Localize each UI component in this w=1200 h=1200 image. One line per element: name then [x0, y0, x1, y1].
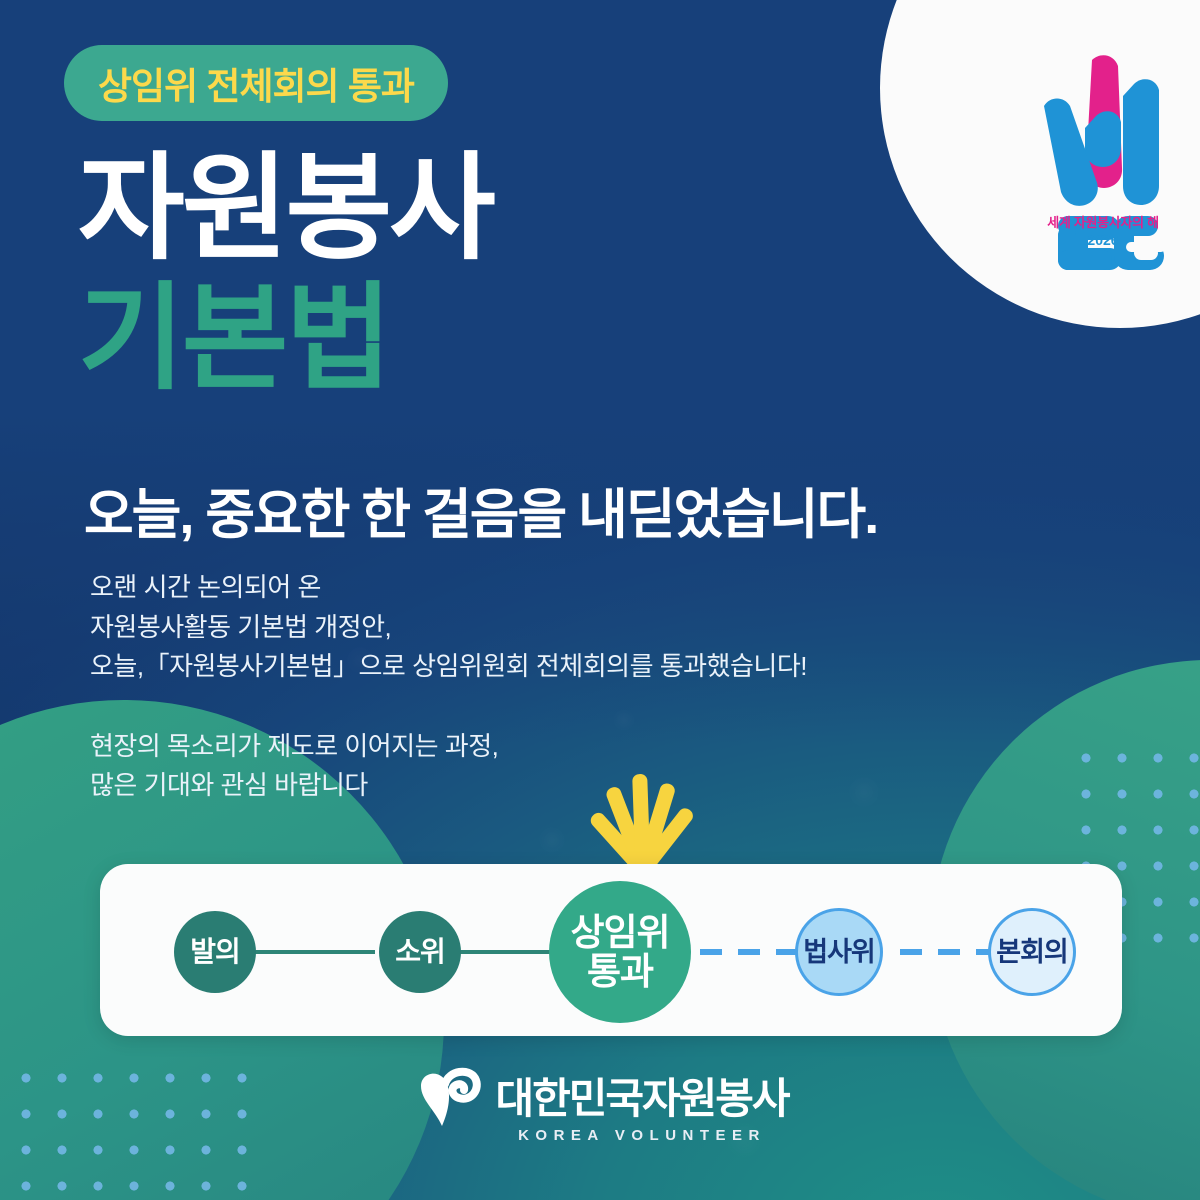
- step-balui[interactable]: 발의: [174, 911, 256, 993]
- footer-name-english: KOREA VOLUNTEER: [495, 1127, 788, 1144]
- title-line-2: 기본법: [78, 280, 493, 396]
- footer-name-korean: 대한민국자원봉사: [495, 1078, 788, 1120]
- step-sangimwi-tonggwa[interactable]: 상임위 통과: [549, 881, 691, 1023]
- title-line-1: 자원봉사: [78, 150, 493, 266]
- step-sangimwi-label-line1: 상임위: [570, 913, 669, 952]
- page-title: 자원봉사 기본법: [78, 150, 493, 396]
- footer-logo: 대한민국자원봉사 KOREA VOLUNTEER: [0, 1078, 1200, 1144]
- paragraph-spacer: [90, 687, 807, 727]
- status-badge: 상임위 전체회의 통과: [64, 45, 448, 121]
- step-sowi-label: 소위: [395, 937, 445, 967]
- footer-wordmark: 대한민국자원봉사 KOREA VOLUNTEER: [495, 1078, 788, 1144]
- body-para1-line2: 자원봉사활동 기본법 개정안,: [90, 608, 807, 648]
- step-balui-label: 발의: [190, 937, 240, 967]
- step-beopsawi-label: 법사위: [803, 938, 875, 967]
- status-badge-label: 상임위 전체회의 통과: [98, 56, 414, 110]
- subheading: 오늘, 중요한 한 걸음을 내딛었습니다.: [84, 470, 877, 549]
- connector-1-2: [255, 950, 375, 954]
- body-para1-line3: 오늘,「자원봉사기본법」으로 상임위원회 전체회의를 통과했습니다!: [90, 647, 807, 687]
- connector-3-4: [700, 949, 796, 955]
- heart-ribbon-icon: [411, 1064, 485, 1138]
- logo-caption-year: 2026: [1030, 232, 1176, 248]
- step-sangimwi-label-line2: 통과: [587, 952, 653, 991]
- logo-caption-korean: 세계 자원봉사자의 해: [1030, 212, 1176, 231]
- step-beopsawi[interactable]: 법사위: [795, 908, 883, 996]
- step-bonhoeui-label: 본회의: [996, 938, 1068, 967]
- card-news-poster: 상임위 전체회의 통과 자원봉사 기본법 오늘, 중요한 한 걸음을 내딛었습니…: [0, 0, 1200, 1200]
- connector-4-5: [900, 949, 994, 955]
- body-para1-line1: 오랜 시간 논의되어 온: [90, 568, 807, 608]
- celebration-rays-icon: [548, 758, 738, 870]
- step-bonhoeui[interactable]: 본회의: [988, 908, 1076, 996]
- step-sowi[interactable]: 소위: [379, 911, 461, 993]
